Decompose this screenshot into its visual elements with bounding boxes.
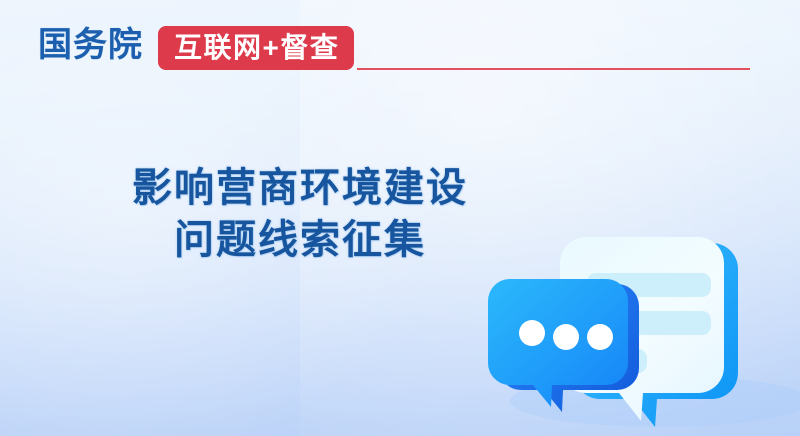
internet-supervision-badge: 互联网+督查 — [158, 26, 354, 70]
page-title-line-1: 影响营商环境建设 — [0, 162, 600, 214]
typing-dot-3 — [587, 324, 613, 350]
banner-header: 国务院 互联网+督查 — [0, 0, 800, 92]
badge-label: 互联网+督查 — [174, 34, 339, 62]
promo-banner: 国务院 互联网+督查 影响营商环境建设 问题线索征集 — [0, 0, 800, 436]
typing-dot-2 — [553, 324, 579, 350]
chat-bubbles-illustration — [470, 215, 800, 436]
gov-brand-label: 国务院 — [38, 26, 143, 64]
typing-dot-1 — [519, 320, 545, 346]
header-divider-line — [357, 68, 750, 70]
